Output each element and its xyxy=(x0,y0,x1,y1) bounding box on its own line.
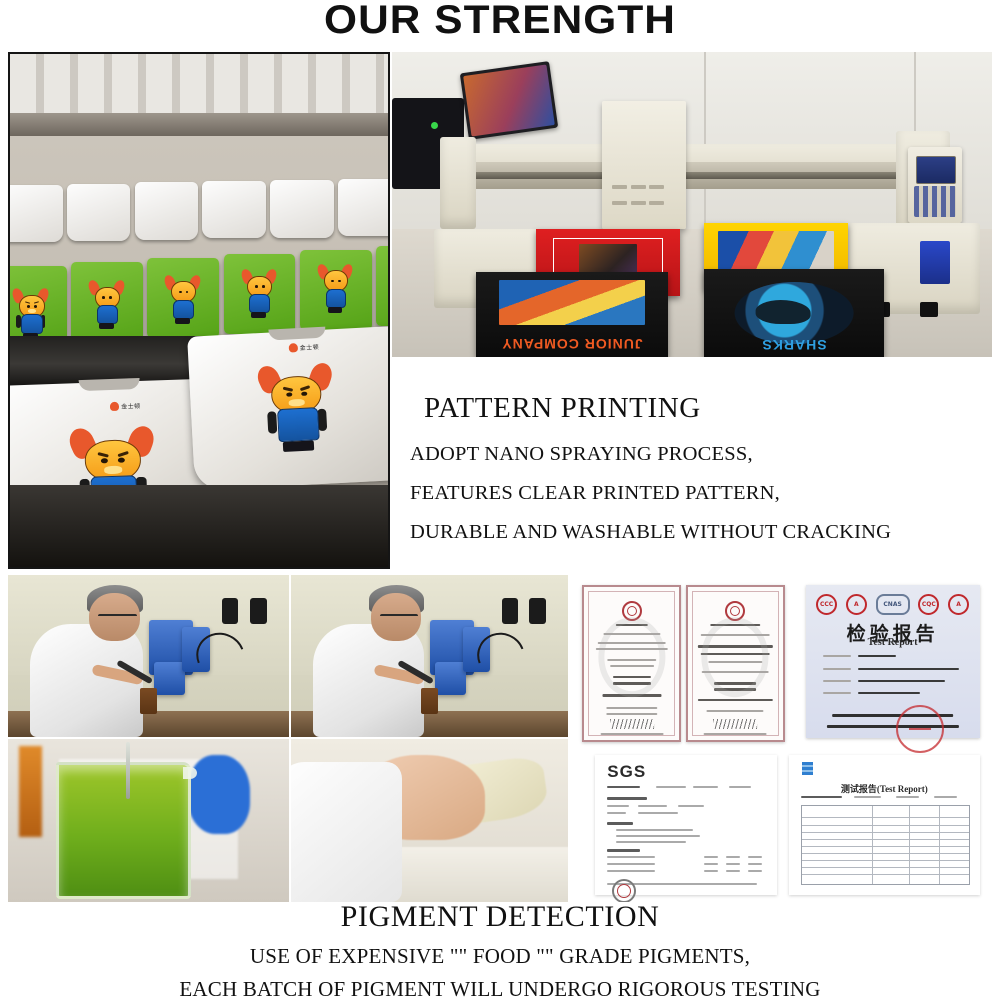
stirring-rod xyxy=(126,742,130,799)
ccc-logo-icon: CCC xyxy=(816,594,837,615)
photo-fabric-inspection xyxy=(291,739,568,902)
pigment-detection-line-1: USE OF EXPENSIVE "" FOOD "" GRADE PIGMEN… xyxy=(0,944,1000,969)
h-logo xyxy=(801,760,813,778)
photo-certificates: CCC A CNAS CQC A 检验报告 Test Report SGS xyxy=(578,575,992,902)
certificate-iso-right xyxy=(686,585,785,743)
bull-mascot-print xyxy=(90,279,123,327)
finished-shirt-back: 金士顿 xyxy=(188,325,390,490)
iso-logo-icon: A xyxy=(948,594,969,615)
page-title: OUR STRENGTH xyxy=(0,0,1000,42)
certification-logos: CCC A CNAS CQC A xyxy=(816,594,969,614)
garment-sharks: SHARKS xyxy=(704,269,884,357)
garment-text-junior: JUNIOR COMPANY xyxy=(501,336,642,352)
photo-lab-technician-1 xyxy=(8,575,289,737)
h-report-title: 测试报告(Test Report) xyxy=(789,782,979,795)
certificate-test-report-cn: CCC A CNAS CQC A 检验报告 Test Report xyxy=(806,585,980,739)
ce-logo-icon: A xyxy=(846,594,867,615)
red-seal-stamp xyxy=(896,705,944,753)
gantry-left-post xyxy=(440,137,476,229)
photo-lab-technician-2 xyxy=(291,575,568,737)
certificate-iso-left xyxy=(582,585,681,743)
print-carriage xyxy=(602,101,686,229)
ink-bottle xyxy=(920,241,950,284)
pigment-detection-line-2: EACH BATCH OF PIGMENT WILL UNDERGO RIGOR… xyxy=(0,977,1000,1002)
sgs-logo: SGS xyxy=(607,762,646,782)
photo-conveyor-printing-line: 金士顿 金士顿 金士顿 xyxy=(8,52,390,569)
document-sgs-report: SGS xyxy=(595,755,777,896)
tablet-display xyxy=(460,61,558,140)
lab-coat-sleeve xyxy=(291,762,402,902)
control-keypad[interactable] xyxy=(914,186,955,217)
bull-mascot-print xyxy=(242,268,275,316)
mascot-logo-text: 金士顿 xyxy=(121,401,141,411)
pigment-detection-heading: PIGMENT DETECTION xyxy=(0,900,1000,934)
photo-flatbed-printer: JUNIOR COMPANY SHARKS xyxy=(392,52,992,357)
cnas-logo-icon: CNAS xyxy=(876,594,910,615)
printer-control-panel[interactable] xyxy=(908,147,962,223)
test-results-table xyxy=(801,805,971,884)
pigment-detection-text: PIGMENT DETECTION USE OF EXPENSIVE "" FO… xyxy=(0,900,1000,1002)
beaker xyxy=(56,762,191,898)
garment-junior-company: JUNIOR COMPANY xyxy=(476,272,668,357)
bull-mascot-print xyxy=(166,274,199,322)
garment-text-sharks: SHARKS xyxy=(761,337,826,353)
test-report-title-en: Test Report xyxy=(806,637,980,648)
machine-base xyxy=(10,485,388,567)
background-wall xyxy=(10,54,388,136)
cqc-logo-icon: CQC xyxy=(918,594,939,615)
pattern-printing-line-3: DURABLE AND WASHABLE WITHOUT CRACKING xyxy=(392,521,992,544)
pattern-printing-line-2: FEATURES CLEAR PRINTED PATTERN, xyxy=(392,482,992,505)
h-logo-bars-icon xyxy=(802,762,813,775)
photo-green-pigment-beaker xyxy=(8,739,289,902)
power-led-icon xyxy=(431,122,438,129)
bull-mascot-print xyxy=(14,287,49,337)
pattern-printing-text: PATTERN PRINTING ADOPT NANO SPRAYING PRO… xyxy=(392,392,992,544)
bull-mascot-print xyxy=(318,263,351,311)
bull-mascot-large xyxy=(259,360,334,450)
pattern-printing-heading: PATTERN PRINTING xyxy=(392,392,992,425)
printer-rail xyxy=(458,162,914,189)
document-h-test-report: 测试报告(Test Report) xyxy=(789,755,979,896)
pattern-printing-line-1: ADOPT NANO SPRAYING PROCESS, xyxy=(392,443,992,466)
control-screen xyxy=(916,156,957,184)
white-shirt-row xyxy=(8,182,390,249)
